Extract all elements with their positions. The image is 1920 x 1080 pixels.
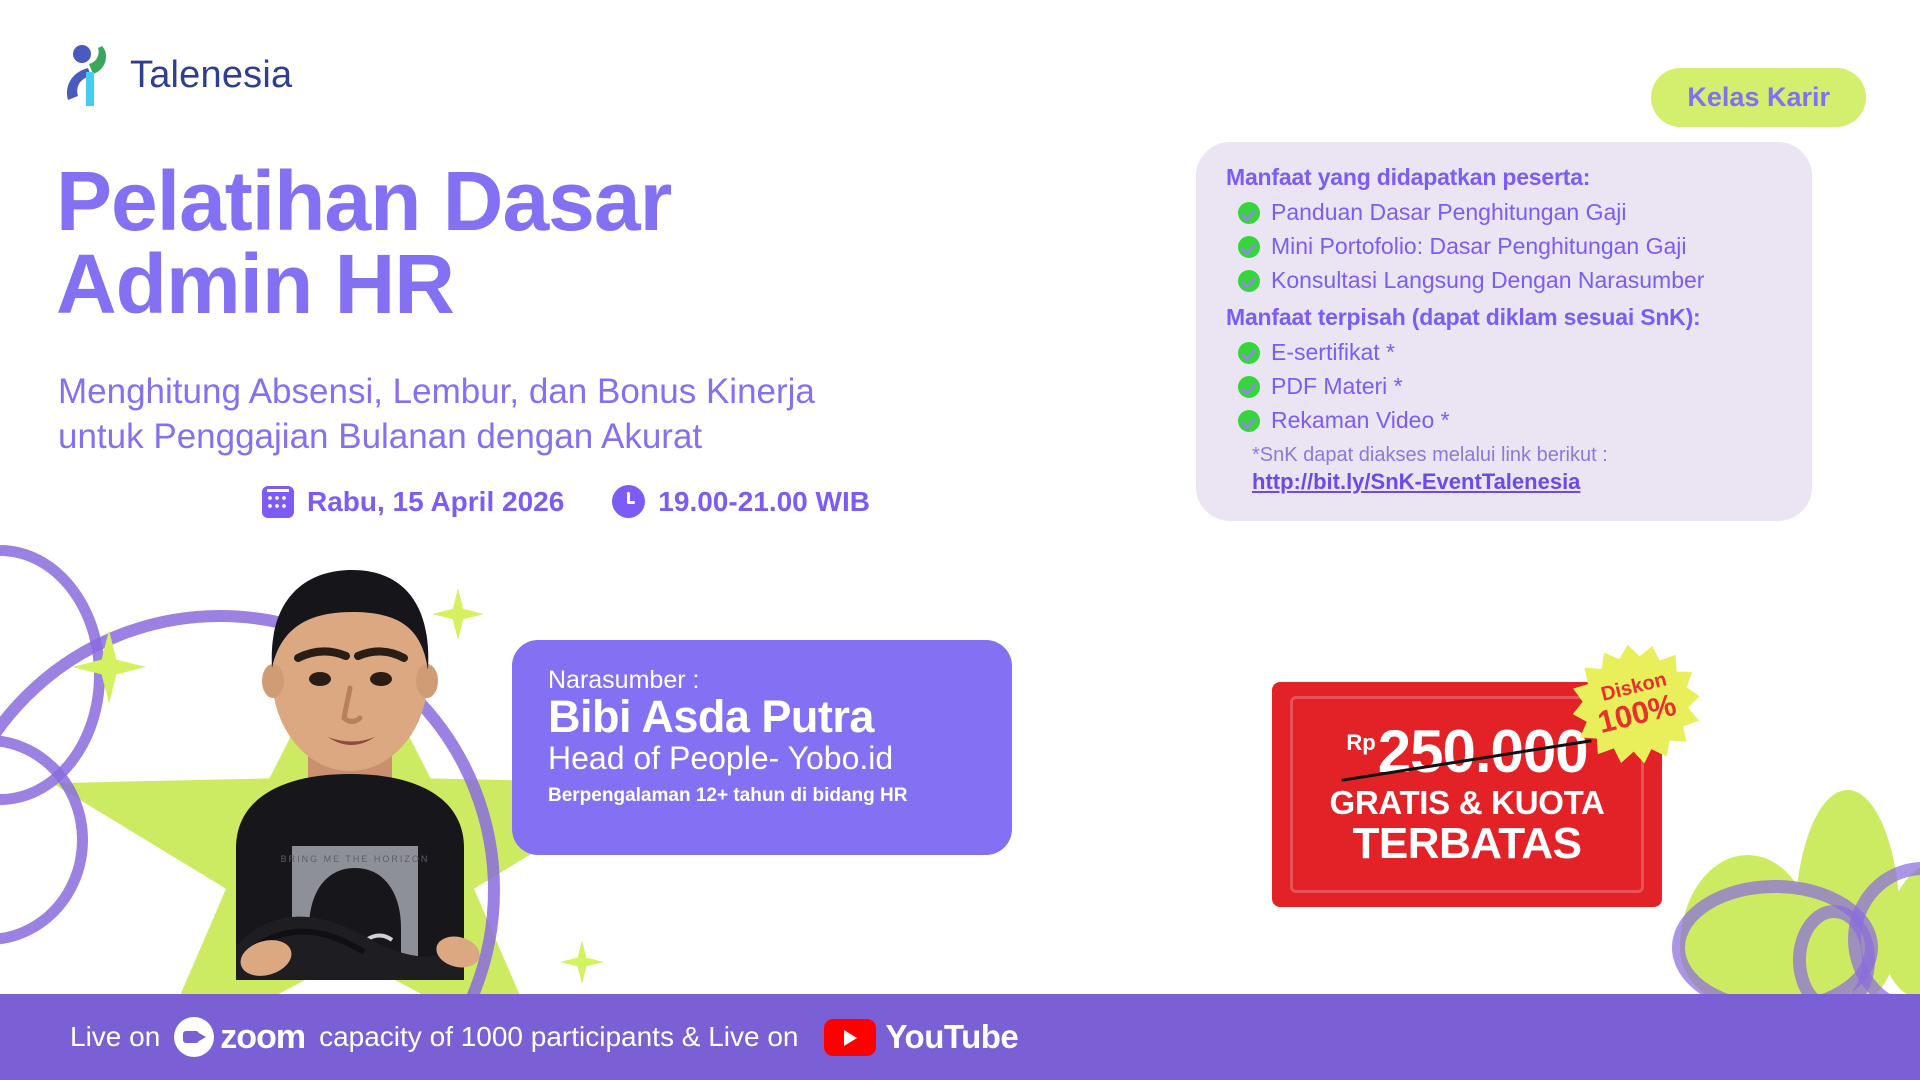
event-time: 19.00-21.00 WIB	[612, 485, 870, 518]
footer-bar: Live on zoom capacity of 1000 participan…	[0, 994, 1920, 1080]
zoom-logo: zoom	[174, 1017, 305, 1057]
benefit-label: Panduan Dasar Penghitungan Gaji	[1271, 199, 1626, 226]
check-circle-icon	[1238, 376, 1260, 398]
event-date: Rabu, 15 April 2026	[262, 486, 564, 518]
original-price: Rp 250.000	[1346, 722, 1587, 782]
benefit-group-title: Manfaat terpisah (dapat diklam sesuai Sn…	[1226, 304, 1782, 331]
benefit-group-secondary: Manfaat terpisah (dapat diklam sesuai Sn…	[1226, 304, 1782, 434]
speaker-card: Narasumber : Bibi Asda Putra Head of Peo…	[512, 640, 1012, 855]
headline-line-1: Pelatihan Dasar	[56, 160, 956, 243]
benefit-label: PDF Materi *	[1271, 373, 1403, 400]
purple-ring-decor	[0, 735, 88, 945]
speaker-role: Head of People- Yobo.id	[548, 741, 1012, 777]
speaker-name: Bibi Asda Putra	[548, 693, 1012, 741]
check-circle-icon	[1238, 410, 1260, 432]
footer-capacity-text: capacity of 1000 participants & Live on	[319, 1021, 798, 1053]
page-subtitle: Menghitung Absensi, Lembur, dan Bonus Ki…	[58, 370, 1048, 460]
kelas-karir-badge: Kelas Karir	[1651, 68, 1866, 127]
calendar-icon	[262, 486, 294, 518]
lime-leaf-decor	[1680, 855, 1815, 1005]
benefits-panel: Manfaat yang didapatkan peserta: Panduan…	[1196, 142, 1812, 521]
check-circle-icon	[1238, 270, 1260, 292]
speaker-photo: BRING ME THE HORIZON	[140, 548, 560, 980]
headline-line-2: Admin HR	[56, 243, 956, 326]
benefit-item: Panduan Dasar Penghitungan Gaji	[1238, 199, 1782, 226]
brand-logo: Talenesia	[62, 42, 292, 108]
snk-link[interactable]: http://bit.ly/SnK-EventTalenesia	[1252, 469, 1782, 495]
currency-label: Rp	[1346, 732, 1375, 754]
benefit-label: Rekaman Video *	[1271, 407, 1450, 434]
benefit-group-primary: Manfaat yang didapatkan peserta: Panduan…	[1226, 164, 1782, 294]
svg-text:BRING ME THE HORIZON: BRING ME THE HORIZON	[281, 854, 430, 864]
sparkle-icon	[560, 940, 604, 984]
benefit-label: E-sertifikat *	[1271, 339, 1395, 366]
benefit-group-title: Manfaat yang didapatkan peserta:	[1226, 164, 1782, 191]
zoom-wordmark: zoom	[220, 1018, 305, 1057]
subtitle-line-1: Menghitung Absensi, Lembur, dan Bonus Ki…	[58, 370, 1048, 415]
snk-note: *SnK dapat diakses melalui link berikut …	[1252, 444, 1782, 467]
ticket-line-2: TERBATAS	[1352, 822, 1581, 867]
youtube-logo: YouTube	[824, 1018, 1018, 1056]
talenesia-person-icon	[62, 42, 120, 108]
page-title: Pelatihan Dasar Admin HR	[56, 160, 956, 326]
lime-leaf-decor	[1884, 860, 1920, 1005]
sparkle-icon	[72, 630, 146, 704]
event-date-text: Rabu, 15 April 2026	[307, 486, 564, 518]
benefit-item: Mini Portofolio: Dasar Penghitungan Gaji	[1238, 233, 1782, 260]
promo-banner: Talenesia Kelas Karir Pelatihan Dasar Ad…	[0, 0, 1920, 1080]
youtube-play-icon	[824, 1019, 876, 1056]
ticket-line-1: GRATIS & KUOTA	[1329, 784, 1604, 822]
benefit-label: Mini Portofolio: Dasar Penghitungan Gaji	[1271, 233, 1687, 260]
event-meta: Rabu, 15 April 2026 19.00-21.00 WIB	[262, 485, 870, 518]
benefit-item: PDF Materi *	[1238, 373, 1782, 400]
speaker-experience: Berpengalaman 12+ tahun di bidang HR	[548, 785, 1012, 807]
benefit-item: Rekaman Video *	[1238, 407, 1782, 434]
lime-leaf-decor	[1795, 790, 1900, 1005]
clock-icon	[612, 485, 645, 518]
event-time-text: 19.00-21.00 WIB	[658, 486, 870, 518]
brand-name: Talenesia	[130, 54, 292, 97]
check-circle-icon	[1238, 236, 1260, 258]
footer-live-on-label: Live on	[70, 1021, 160, 1053]
check-circle-icon	[1238, 202, 1260, 224]
price-amount: 250.000	[1378, 722, 1588, 782]
zoom-camera-icon	[174, 1017, 214, 1057]
benefit-item: Konsultasi Langsung Dengan Narasumber	[1238, 267, 1782, 294]
youtube-wordmark: YouTube	[885, 1018, 1018, 1056]
subtitle-line-2: untuk Penggajian Bulanan dengan Akurat	[58, 415, 1048, 460]
benefit-item: E-sertifikat *	[1238, 339, 1782, 366]
benefit-label: Konsultasi Langsung Dengan Narasumber	[1271, 267, 1704, 294]
purple-ring-decor	[0, 545, 105, 805]
check-circle-icon	[1238, 342, 1260, 364]
